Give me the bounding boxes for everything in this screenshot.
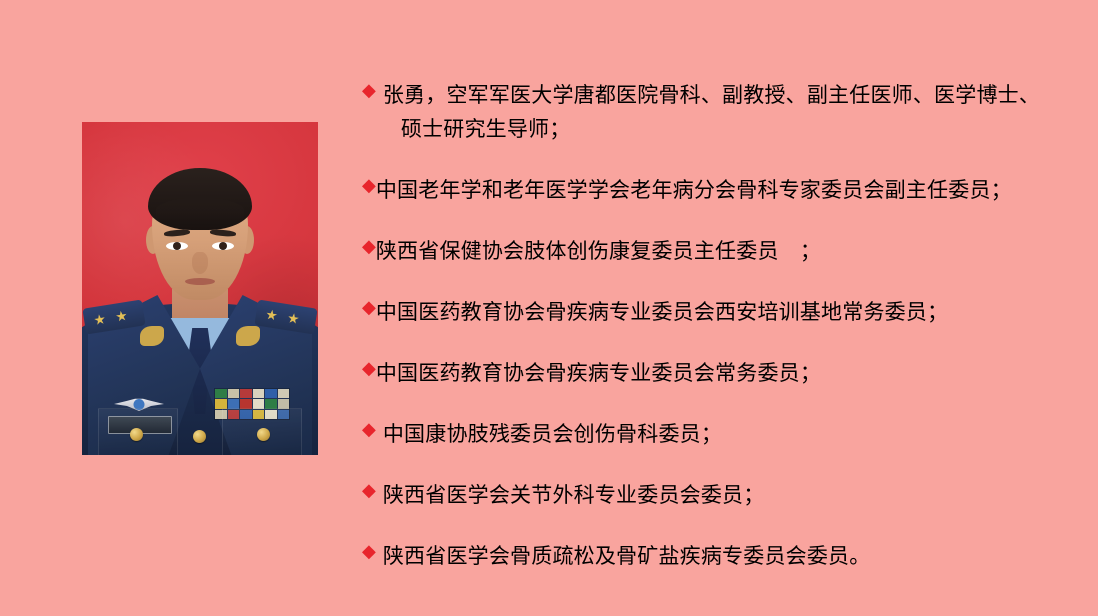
credential-text: 中国老年学和老年医学学会老年病分会骨科专家委员会副主任委员；: [376, 173, 1062, 207]
diamond-bullet-icon: ◆: [362, 478, 376, 504]
credential-text-continuation: 硕士研究生导师；: [383, 112, 1062, 146]
credential-item: ◆陕西省保健协会肢体创伤康复委员主任委员 ；: [362, 234, 1062, 268]
credential-text: 陕西省医学会关节外科专业委员会委员；: [383, 478, 1062, 512]
credential-text: 陕西省保健协会肢体创伤康复委员主任委员 ；: [376, 234, 1062, 268]
service-ribbon: [253, 389, 265, 398]
diamond-bullet-icon: ◆: [362, 173, 376, 199]
credential-item: ◆中国医药教育协会骨疾病专业委员会西安培训基地常务委员；: [362, 295, 1062, 329]
uniform-button: [193, 430, 206, 443]
uniform-button: [257, 428, 270, 441]
credential-text: 中国康协肢残委员会创伤骨科委员；: [383, 417, 1062, 451]
diamond-bullet-icon: ◆: [362, 78, 376, 104]
credential-text: 中国医药教育协会骨疾病专业委员会常务委员；: [376, 356, 1062, 390]
collar-insignia-right: [236, 326, 260, 346]
service-ribbon: [265, 389, 277, 398]
portrait-photo: [82, 122, 318, 455]
diamond-bullet-icon: ◆: [362, 539, 376, 565]
diamond-bullet-icon: ◆: [362, 234, 376, 260]
head: [148, 168, 252, 300]
credential-text: 中国医药教育协会骨疾病专业委员会西安培训基地常务委员；: [376, 295, 1062, 329]
service-ribbon: [228, 389, 240, 398]
service-ribbon: [278, 389, 290, 398]
diamond-bullet-icon: ◆: [362, 295, 376, 321]
credential-text: 张勇，空军军医大学唐都医院骨科、副教授、副主任医师、医学博士、硕士研究生导师；: [383, 78, 1062, 146]
credential-item: ◆中国老年学和老年医学学会老年病分会骨科专家委员会副主任委员；: [362, 173, 1062, 207]
credential-item: ◆陕西省医学会关节外科专业委员会委员；: [362, 478, 1062, 512]
slide-canvas: ◆张勇，空军军医大学唐都医院骨科、副教授、副主任医师、医学博士、硕士研究生导师；…: [0, 0, 1098, 616]
credential-item: ◆陕西省医学会骨质疏松及骨矿盐疾病专委员会委员。: [362, 539, 1062, 573]
credential-item: ◆张勇，空军军医大学唐都医院骨科、副教授、副主任医师、医学博士、硕士研究生导师；: [362, 78, 1062, 146]
credential-item: ◆中国康协肢残委员会创伤骨科委员；: [362, 417, 1062, 451]
service-ribbon: [240, 389, 252, 398]
mouth: [185, 278, 215, 285]
eye-left: [166, 242, 188, 250]
credential-item: ◆中国医药教育协会骨疾病专业委员会常务委员；: [362, 356, 1062, 390]
uniform-button: [130, 428, 143, 441]
eye-right: [212, 242, 234, 250]
credential-text: 陕西省医学会骨质疏松及骨矿盐疾病专委员会委员。: [383, 539, 1062, 573]
hair: [148, 168, 252, 230]
diamond-bullet-icon: ◆: [362, 417, 376, 443]
credentials-list: ◆张勇，空军军医大学唐都医院骨科、副教授、副主任医师、医学博士、硕士研究生导师；…: [362, 78, 1062, 600]
service-ribbon: [215, 389, 227, 398]
nose: [192, 252, 208, 274]
diamond-bullet-icon: ◆: [362, 356, 376, 382]
collar-insignia-left: [140, 326, 164, 346]
